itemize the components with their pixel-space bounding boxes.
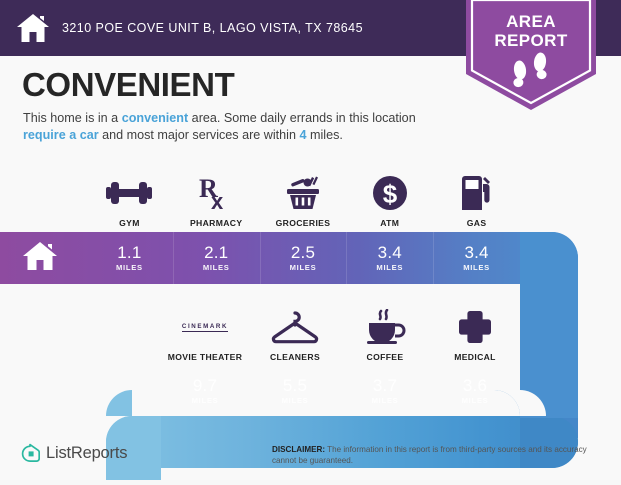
summary-highlight-2: require a car <box>23 128 99 142</box>
cinemark-wordmark: CINEMARK <box>182 323 228 332</box>
amenity-cleaners: CLEANERS <box>250 300 340 362</box>
dumbbell-icon <box>106 174 152 212</box>
amenity-label: GYM <box>119 218 140 228</box>
amenity-label: GAS <box>467 218 487 228</box>
amenity-label: MEDICAL <box>454 352 496 362</box>
amenity-label: MOVIE THEATER <box>168 352 243 362</box>
amenity-movie-theater: CINEMARK MOVIE THEATER <box>160 300 250 362</box>
summary-part-2: area. Some daily errands in this locatio… <box>188 111 416 125</box>
hanger-icon <box>270 308 320 346</box>
area-report-badge: AREA REPORT <box>466 0 596 110</box>
summary-part-1: This home is in a <box>23 111 122 125</box>
summary-text: This home is in a convenient area. Some … <box>23 110 453 144</box>
amenity-icon-row-1: GYM R x PHARMACY <box>86 164 520 228</box>
dollar-icon: $ <box>372 174 408 212</box>
summary-part-4: miles. <box>307 128 343 142</box>
summary-part-3: and most major services are within <box>99 128 300 142</box>
area-report-page: 3210 POE COVE UNIT B, LAGO VISTA, TX 786… <box>0 0 621 480</box>
amenity-medical: MEDICAL <box>430 300 520 362</box>
basket-icon <box>283 174 323 212</box>
summary-highlight-3: 4 <box>299 128 306 142</box>
amenity-label: COFFEE <box>367 352 404 362</box>
home-icon <box>16 13 50 43</box>
rx-icon: R x <box>199 174 233 212</box>
amenity-label: PHARMACY <box>190 218 242 228</box>
svg-text:x: x <box>211 189 224 211</box>
listreports-wordmark: ListReports <box>46 444 127 463</box>
listreports-logo: ListReports <box>20 443 127 463</box>
svg-text:$: $ <box>383 179 398 209</box>
cinemark-logo-icon: CINEMARK <box>182 308 228 346</box>
amenity-gym: GYM <box>86 164 173 228</box>
summary-highlight-1: convenient <box>122 111 188 125</box>
property-address: 3210 POE COVE UNIT B, LAGO VISTA, TX 786… <box>62 21 363 35</box>
page-title: CONVENIENT <box>22 66 234 104</box>
amenity-pharmacy: R x PHARMACY <box>173 164 260 228</box>
amenity-gas: GAS <box>433 164 520 228</box>
amenity-label: ATM <box>380 218 399 228</box>
listreports-house-icon <box>20 443 40 463</box>
amenity-label: CLEANERS <box>270 352 320 362</box>
amenity-label: GROCERIES <box>276 218 331 228</box>
disclaimer: DISCLAIMER: The information in this repo… <box>272 444 608 466</box>
gas-pump-icon <box>460 174 494 212</box>
medical-cross-icon <box>458 308 492 346</box>
amenity-coffee: COFFEE <box>340 300 430 362</box>
amenity-atm: $ ATM <box>346 164 433 228</box>
coffee-cup-icon <box>364 308 406 346</box>
subject-home-icon <box>22 240 58 272</box>
amenity-icon-row-2: CINEMARK MOVIE THEATER CLEANERS <box>160 300 520 362</box>
amenity-groceries: GROCERIES <box>260 164 347 228</box>
disclaimer-label: DISCLAIMER: <box>272 445 325 454</box>
